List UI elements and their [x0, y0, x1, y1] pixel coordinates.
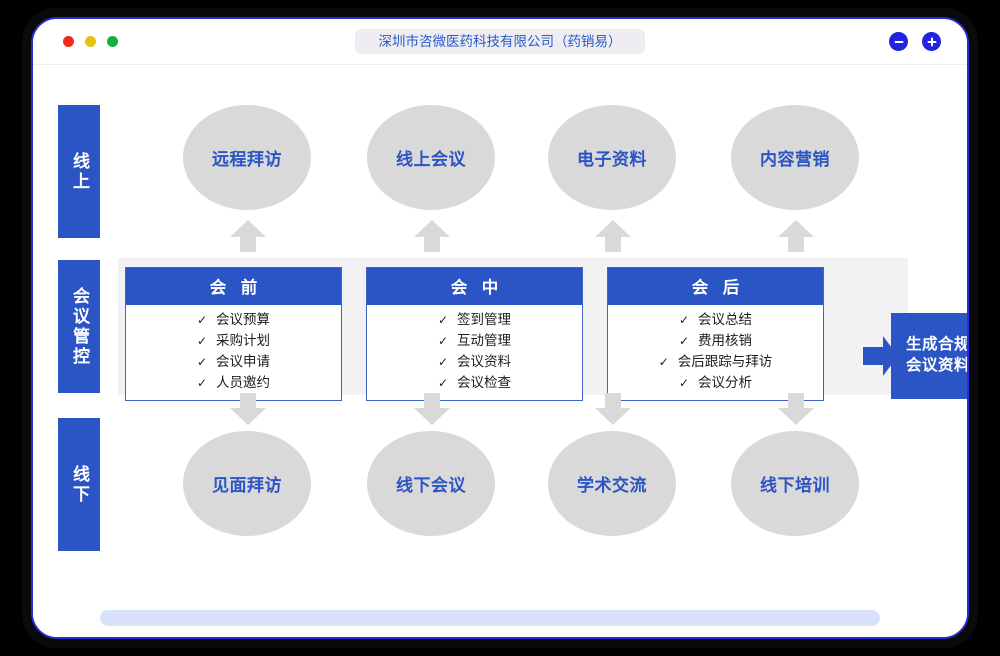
node-label: 电子资料 [577, 145, 647, 170]
check-icon: ✓ [438, 311, 448, 330]
zoom-out-icon[interactable] [889, 32, 908, 51]
panel-item[interactable]: ✓ 采购计划 [126, 331, 341, 352]
node-offline-meeting[interactable]: 线下会议 [367, 431, 495, 536]
rail-meeting-management: 会议管控 [58, 260, 100, 393]
arrow-down-icon [594, 391, 632, 427]
window-title: 深圳市咨微医药科技有限公司（药销易） [355, 29, 645, 54]
rail-offline-label: 线下 [69, 465, 89, 505]
check-icon: ✓ [197, 311, 207, 330]
node-label: 远程拜访 [212, 145, 282, 170]
panel-item[interactable]: ✓ 会议申请 [126, 352, 341, 373]
panel-item[interactable]: ✓ 会议资料 [367, 352, 582, 373]
node-academic-exchange[interactable]: 学术交流 [548, 431, 676, 536]
node-face-to-face-visit[interactable]: 见面拜访 [183, 431, 311, 536]
node-label: 线上会议 [396, 145, 466, 170]
panel-post-meeting[interactable]: 会 后 ✓ 会议总结 ✓ 费用核销 ✓ 会后跟踪与拜访 ✓ [607, 267, 824, 401]
arrow-down-icon [777, 391, 815, 427]
node-content-marketing[interactable]: 内容营销 [731, 105, 859, 210]
traffic-light-controls[interactable] [63, 36, 118, 47]
panel-item[interactable]: ✓ 会后跟踪与拜访 [608, 352, 823, 373]
panel-during-meeting[interactable]: 会 中 ✓ 签到管理 ✓ 互动管理 ✓ 会议资料 ✓ [366, 267, 583, 401]
result-compliant-materials[interactable]: 生成合规 会议资料 [891, 313, 969, 399]
panel-item-label: 会议总结 [698, 310, 752, 331]
panel-item[interactable]: ✓ 会议预算 [126, 310, 341, 331]
result-line-2: 会议资料 [906, 356, 969, 377]
check-icon: ✓ [438, 353, 448, 372]
panel-items: ✓ 会议预算 ✓ 采购计划 ✓ 会议申请 ✓ 人员邀约 [126, 305, 341, 400]
rail-offline: 线下 [58, 418, 100, 551]
arrow-down-icon [229, 391, 267, 427]
check-icon: ✓ [679, 374, 689, 393]
panel-item-label: 会议预算 [216, 310, 270, 331]
minimize-window-icon[interactable] [85, 36, 96, 47]
panel-pre-meeting[interactable]: 会 前 ✓ 会议预算 ✓ 采购计划 ✓ 会议申请 ✓ [125, 267, 342, 401]
window-zoom-controls[interactable] [889, 32, 941, 51]
node-online-meeting[interactable]: 线上会议 [367, 105, 495, 210]
panel-item[interactable]: ✓ 会议检查 [367, 373, 582, 394]
panel-items: ✓ 签到管理 ✓ 互动管理 ✓ 会议资料 ✓ 会议检查 [367, 305, 582, 400]
panel-item-label: 会议申请 [216, 352, 270, 373]
panel-items: ✓ 会议总结 ✓ 费用核销 ✓ 会后跟踪与拜访 ✓ 会议分析 [608, 305, 823, 400]
panel-item[interactable]: ✓ 互动管理 [367, 331, 582, 352]
arrow-up-icon [413, 218, 451, 254]
check-icon: ✓ [438, 374, 448, 393]
panel-item-label: 会议分析 [698, 373, 752, 394]
arrow-down-icon [413, 391, 451, 427]
node-offline-training[interactable]: 线下培训 [731, 431, 859, 536]
node-label: 见面拜访 [212, 471, 282, 496]
zoom-in-icon[interactable] [922, 32, 941, 51]
panel-item[interactable]: ✓ 费用核销 [608, 331, 823, 352]
arrow-up-icon [777, 218, 815, 254]
panel-item[interactable]: ✓ 会议总结 [608, 310, 823, 331]
check-icon: ✓ [197, 332, 207, 351]
node-electronic-materials[interactable]: 电子资料 [548, 105, 676, 210]
check-icon: ✓ [659, 353, 669, 372]
node-label: 线下培训 [760, 471, 830, 496]
rail-meeting-management-label: 会议管控 [69, 287, 89, 367]
arrow-up-icon [594, 218, 632, 254]
app-window: 深圳市咨微医药科技有限公司（药销易） 线上 会议管控 线下 远程拜访 [31, 17, 969, 639]
check-icon: ✓ [197, 353, 207, 372]
node-label: 线下会议 [396, 471, 466, 496]
panel-item-label: 费用核销 [698, 331, 752, 352]
window-titlebar: 深圳市咨微医药科技有限公司（药销易） [33, 19, 967, 65]
arrow-up-icon [229, 218, 267, 254]
result-line-1: 生成合规 [906, 335, 969, 356]
placeholder-bar-primary [100, 610, 880, 626]
screenshot-root: 深圳市咨微医药科技有限公司（药销易） 线上 会议管控 线下 远程拜访 [0, 0, 1000, 656]
maximize-window-icon[interactable] [107, 36, 118, 47]
panel-title: 会 中 [367, 268, 582, 305]
check-icon: ✓ [197, 374, 207, 393]
panel-item-label: 采购计划 [216, 331, 270, 352]
rail-online-label: 线上 [69, 152, 89, 192]
panel-item-label: 会议资料 [457, 352, 511, 373]
placeholder-bar-secondary [100, 638, 586, 639]
rail-online: 线上 [58, 105, 100, 238]
node-remote-visit[interactable]: 远程拜访 [183, 105, 311, 210]
panel-title: 会 前 [126, 268, 341, 305]
panel-title: 会 后 [608, 268, 823, 305]
diagram-canvas: 线上 会议管控 线下 远程拜访 线上会议 电子资料 内容营销 [33, 65, 967, 639]
panel-item-label: 互动管理 [457, 331, 511, 352]
check-icon: ✓ [679, 332, 689, 351]
node-label: 内容营销 [760, 145, 830, 170]
panel-item[interactable]: ✓ 签到管理 [367, 310, 582, 331]
check-icon: ✓ [679, 311, 689, 330]
node-label: 学术交流 [577, 471, 647, 496]
check-icon: ✓ [438, 332, 448, 351]
panel-item-label: 签到管理 [457, 310, 511, 331]
close-window-icon[interactable] [63, 36, 74, 47]
panel-item-label: 会后跟踪与拜访 [678, 352, 773, 373]
panel-item-label: 会议检查 [457, 373, 511, 394]
